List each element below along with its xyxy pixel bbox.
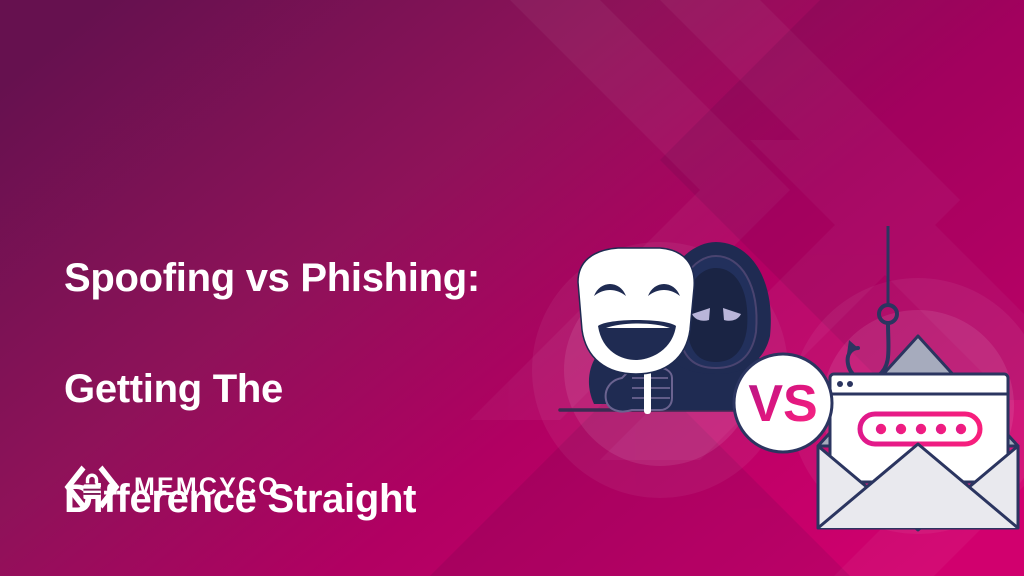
lock-in-angle-brackets-icon (64, 462, 120, 512)
phishing-illustration (818, 226, 1018, 530)
versus-badge: VS (734, 354, 832, 452)
versus-label: VS (748, 375, 817, 433)
headline-line-1: Spoofing vs Phishing: (64, 251, 584, 306)
hero-illustration: VS (520, 218, 1024, 558)
banner-canvas: Spoofing vs Phishing: Getting The Differ… (0, 0, 1024, 576)
smiling-theater-mask-icon (578, 248, 694, 374)
password-field-icon[interactable] (860, 414, 980, 444)
brand-name: MEMCYCO (134, 473, 280, 502)
brand-logo[interactable]: MEMCYCO (64, 462, 280, 512)
headline-line-2: Getting The (64, 362, 584, 417)
page-title: Spoofing vs Phishing: Getting The Differ… (64, 196, 584, 576)
